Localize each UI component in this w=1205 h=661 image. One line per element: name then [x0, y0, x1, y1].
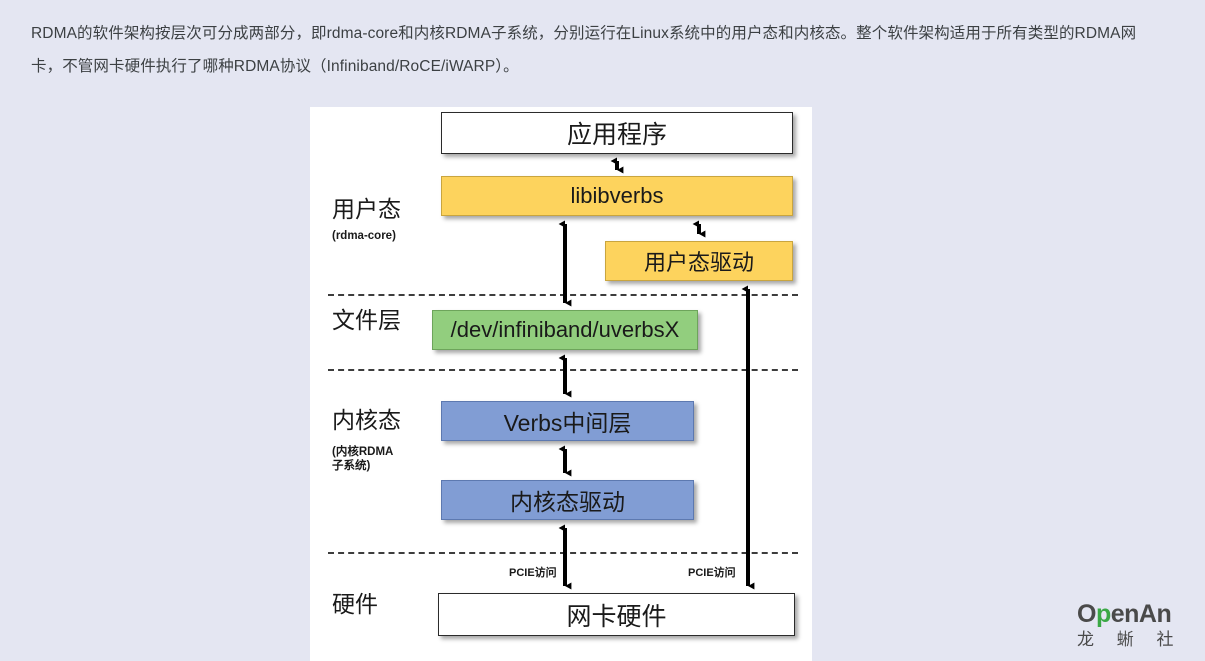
box-application[interactable]: 应用程序	[441, 112, 793, 154]
layer-label-user-mode: 用户态	[332, 198, 401, 221]
watermark-wordmark-accent: p	[1096, 600, 1111, 628]
watermark-openanolis: OpenAn 龙 蜥 社	[1077, 600, 1205, 661]
box-uverbs-device[interactable]: /dev/infiniband/uverbsX	[432, 310, 698, 350]
layer-sublabel-kernel-mode: (内核RDMA 子系统)	[332, 445, 393, 473]
layer-label-kernel-mode: 内核态	[332, 409, 401, 432]
layer-label-file-layer: 文件层	[332, 309, 401, 332]
layer-sublabel-user-mode: (rdma-core)	[332, 229, 396, 243]
separator-user-file	[328, 294, 798, 296]
edge-label-pcie-left: PCIE访问	[509, 564, 557, 580]
layer-label-hardware: 硬件	[332, 593, 378, 616]
rdma-architecture-diagram: 用户态 (rdma-core) 文件层 内核态 (内核RDMA 子系统) 硬件 …	[310, 107, 812, 661]
watermark-wordmark: OpenAn	[1077, 600, 1205, 628]
box-kernel-mode-driver[interactable]: 内核态驱动	[441, 480, 694, 520]
watermark-wordmark-prefix: O	[1077, 600, 1096, 628]
watermark-wordmark-suffix: enAn	[1111, 600, 1172, 628]
box-libibverbs[interactable]: libibverbs	[441, 176, 793, 216]
box-verbs-middle-layer[interactable]: Verbs中间层	[441, 401, 694, 441]
intro-paragraph: RDMA的软件架构按层次可分成两部分，即rdma-core和内核RDMA子系统，…	[31, 17, 1151, 83]
separator-file-kernel	[328, 369, 798, 371]
box-user-mode-driver[interactable]: 用户态驱动	[605, 241, 793, 281]
box-nic-hardware[interactable]: 网卡硬件	[438, 593, 795, 636]
separator-kernel-hardware	[328, 552, 798, 554]
edge-label-pcie-right: PCIE访问	[688, 564, 736, 580]
watermark-subtitle: 龙 蜥 社	[1077, 628, 1205, 652]
